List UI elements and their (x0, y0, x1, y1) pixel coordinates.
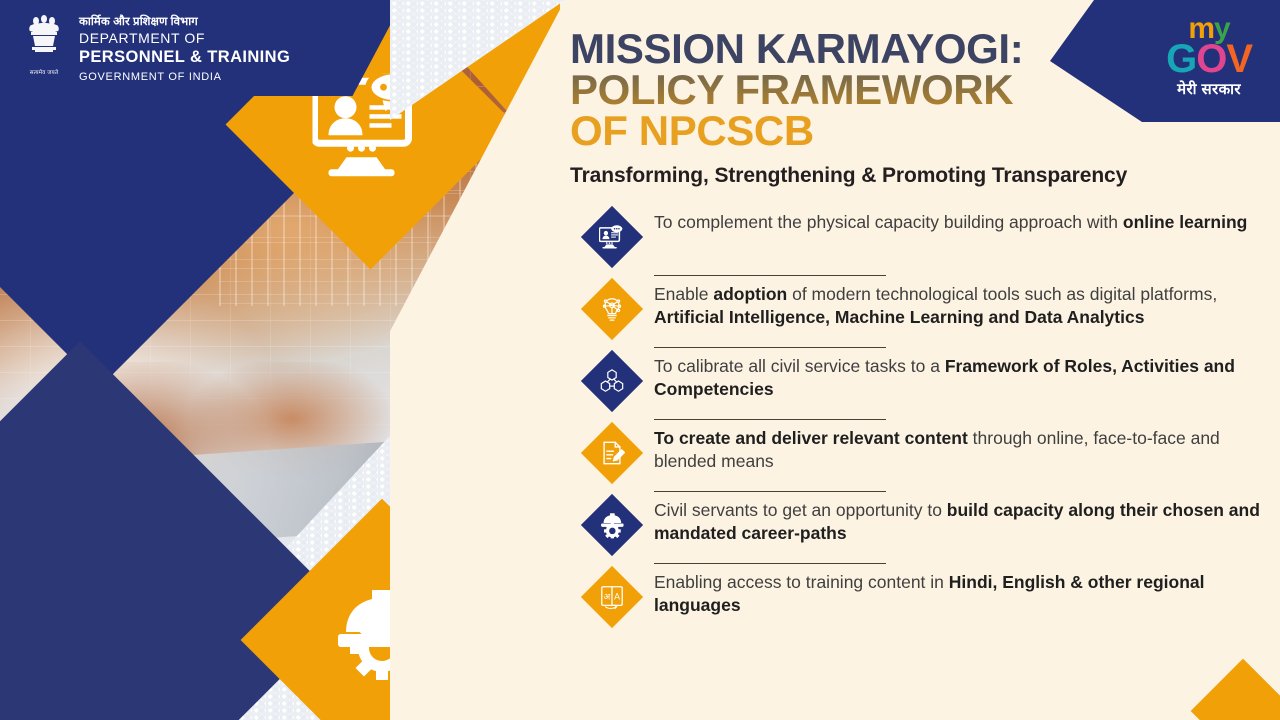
bullet-text: Enabling access to training content in H… (654, 569, 1270, 618)
bullet-text: Civil servants to get an opportunity to … (654, 497, 1270, 546)
title-line-1: MISSION KARMAYOGI: (570, 28, 1270, 69)
bullet-separator (654, 347, 886, 348)
dept-line-personnel-training: PERSONNEL & TRAINING (79, 48, 290, 66)
bullet-icon-cell: अ A (570, 569, 654, 619)
bullet-item: To calibrate all civil service tasks to … (570, 353, 1270, 425)
bullet-text: To create and deliver relevant content t… (654, 425, 1270, 474)
bullet-text: To calibrate all civil service tasks to … (654, 353, 1270, 402)
infographic-poster: सत्यमेव जयते कार्मिक और प्रशिक्षण विभाग … (0, 0, 1280, 720)
bullet-icon-cell (570, 497, 654, 547)
bullet-diamond-navy (581, 350, 643, 412)
bullet-diamond-navy (581, 494, 643, 556)
bullet-diamond-navy (581, 206, 643, 268)
bullet-item: अ A Enabling access to training content … (570, 569, 1270, 641)
bullet-diamond-orange (581, 422, 643, 484)
ashoka-lion-capital-emblem-icon: सत्यमेव जयते (18, 10, 70, 76)
svg-text:A: A (614, 591, 620, 601)
page-subtitle: Transforming, Strengthening & Promoting … (570, 163, 1270, 189)
bullet-separator (654, 563, 886, 564)
dept-line-department-of: DEPARTMENT OF (79, 30, 205, 46)
lightbulb-circuit-idea-icon (599, 296, 625, 322)
bullet-separator (654, 491, 886, 492)
bullet-icon-cell (570, 281, 654, 331)
language-translate-icon: अ A (599, 584, 625, 610)
bullet-item: To create and deliver relevant content t… (570, 425, 1270, 497)
dept-hindi-line: कार्मिक और प्रशिक्षण विभाग (79, 16, 198, 28)
bullet-separator (654, 419, 886, 420)
dopt-text-block: कार्मिक और प्रशिक्षण विभाग DEPARTMENT OF… (79, 10, 290, 85)
bullet-diamond-orange (581, 278, 643, 340)
helmet-gear-capacity-icon (599, 512, 626, 538)
bullet-icon-cell (570, 209, 654, 259)
dopt-logo: सत्यमेव जयते कार्मिक और प्रशिक्षण विभाग … (18, 10, 290, 85)
page-title: MISSION KARMAYOGI: POLICY FRAMEWORK OF N… (570, 28, 1270, 151)
bullet-icon-cell (570, 353, 654, 403)
monitor-video-chat-icon (599, 225, 625, 249)
bullet-separator (654, 275, 886, 276)
bullet-item: Enable adoption of modern technological … (570, 281, 1270, 353)
title-line-3: OF NPCSCB (570, 110, 1270, 151)
main-content: MISSION KARMAYOGI: POLICY FRAMEWORK OF N… (570, 28, 1270, 641)
bullet-text: Enable adoption of modern technological … (654, 281, 1270, 330)
bullet-item: To complement the physical capacity buil… (570, 209, 1270, 281)
network-nodes-framework-icon (599, 368, 625, 394)
title-line-2: POLICY FRAMEWORK (570, 69, 1270, 110)
bullet-text: To complement the physical capacity buil… (654, 209, 1270, 234)
document-pencil-content-icon (599, 440, 625, 466)
bullet-item: Civil servants to get an opportunity to … (570, 497, 1270, 569)
bullet-list: To complement the physical capacity buil… (570, 209, 1270, 641)
emblem-motto: सत्यमेव जयते (30, 68, 59, 76)
dept-line-government-of-india: GOVERNMENT OF INDIA (79, 71, 222, 83)
svg-text:अ: अ (604, 591, 611, 601)
bullet-diamond-orange: अ A (581, 566, 643, 628)
bullet-icon-cell (570, 425, 654, 475)
